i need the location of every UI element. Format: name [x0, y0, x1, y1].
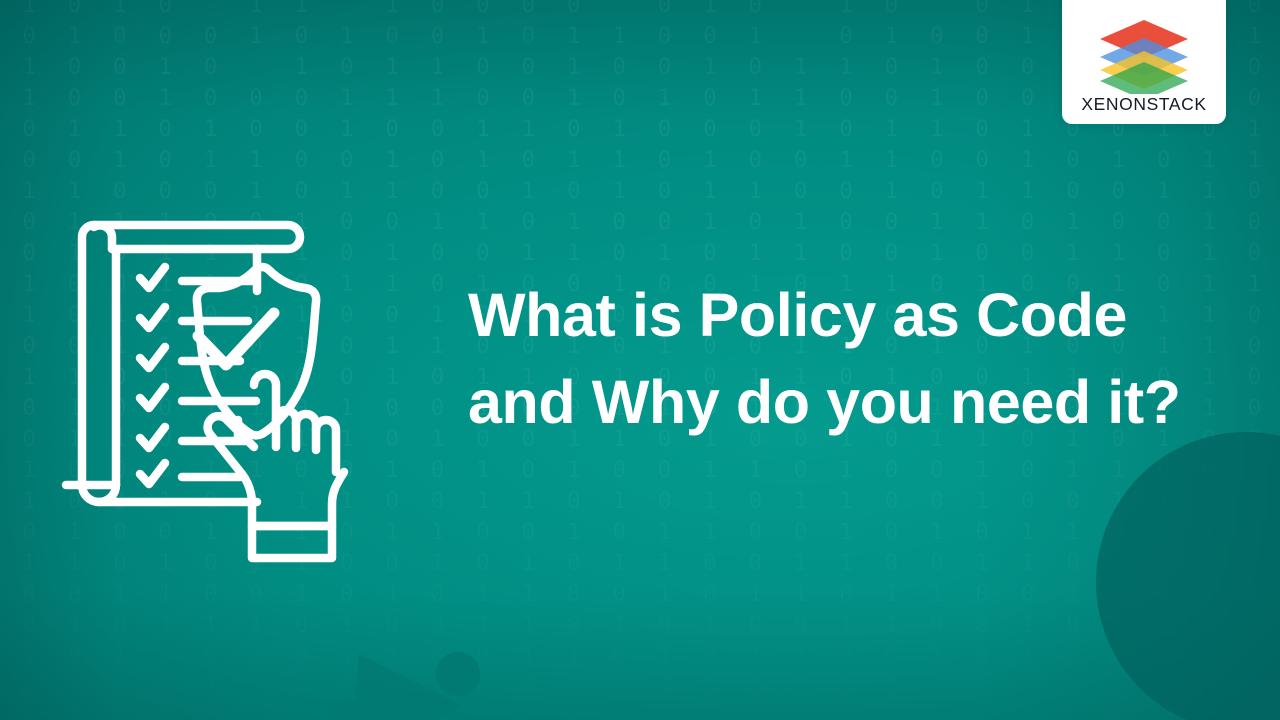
policy-as-code-banner: 0 1 0 1 0 1 1 1 0 0 0 0 0 1 0 1 0 0 1 1 … — [0, 0, 1280, 720]
xenonstack-logo-card[interactable]: XENONSTACK — [1062, 0, 1226, 124]
xenonstack-wordmark: XENONSTACK — [1081, 96, 1206, 114]
page-title-line-2: and Why do you need it? — [468, 359, 1228, 446]
stacked-layers-logo — [1096, 18, 1192, 94]
decorative-circle-small-upper — [436, 652, 480, 696]
page-title: What is Policy as Code and Why do you ne… — [468, 272, 1228, 446]
page-title-line-1: What is Policy as Code — [468, 272, 1228, 359]
policy-checklist-shield-hand-illustration — [52, 202, 404, 584]
